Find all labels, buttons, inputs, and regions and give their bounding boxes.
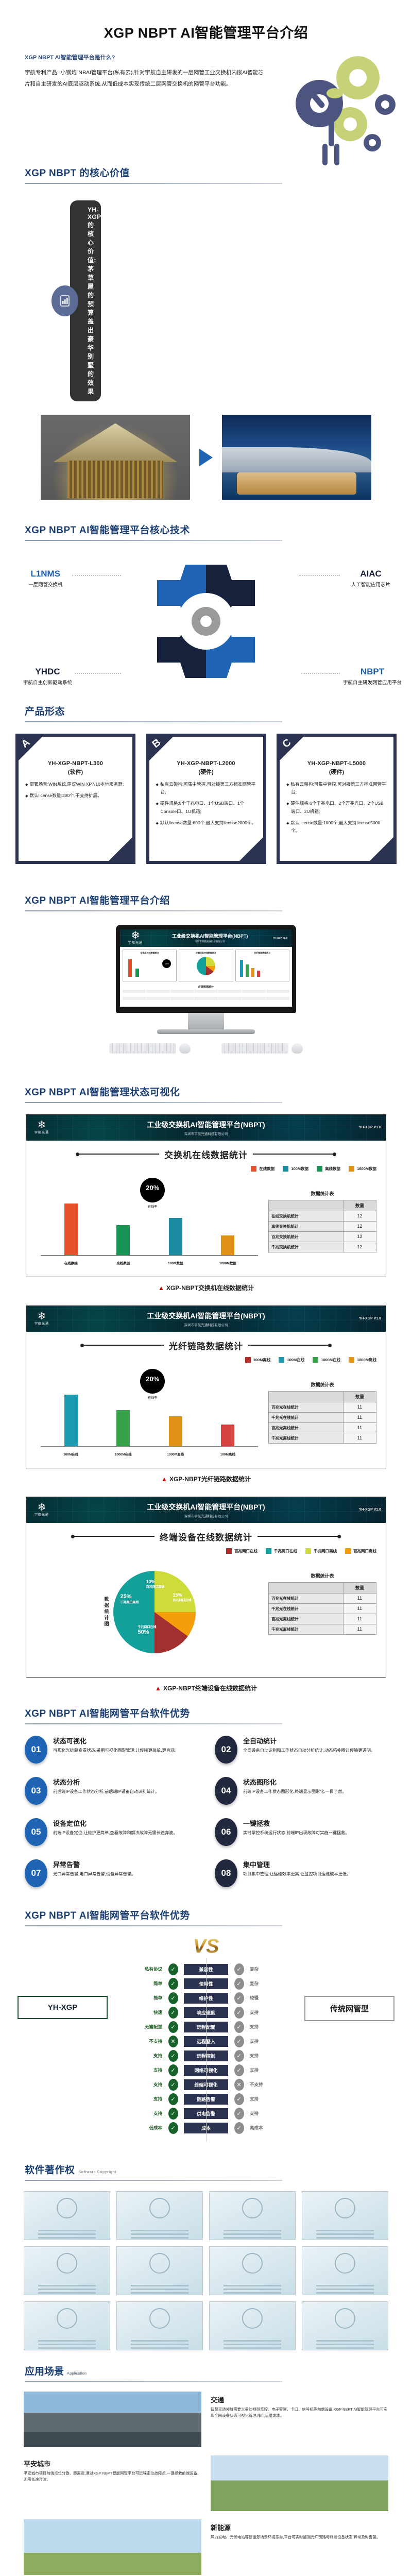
table-row: 千兆光在线统计11 [269,1412,376,1422]
check-icon: ✓ [168,2050,178,2062]
table-row: 百兆交换机统计12 [269,1231,376,1242]
advantage-number: 06 [215,1818,237,1846]
advantage-desc: 前端IP设备工作状态图形化,终端显示图形化,一目了然。 [243,1788,347,1795]
connector-line [72,575,121,576]
flame-icon: ❄ [30,1312,53,1321]
advantage-item-05: 05 设备定位化前端IP设备定位,让维护更简单,查看故障和解决故障无需长途奔波。 [25,1818,197,1846]
bar: 离线数据 [116,1225,130,1255]
legend-label: 千兆网口离线 [314,1548,337,1554]
core-tech-en: YHDC [23,667,72,677]
scenario-text-cell: 平安城市 平安城市项目前端点位分散、距离远,通过XGP NBPT智能网管平台可远… [24,2455,201,2511]
legend-item: 100M在线 [279,1357,304,1363]
advantage-title: 状态图形化 [243,1777,347,1787]
copyright-certificates [0,2181,412,2350]
table-caption: 数据统计表 [268,1381,376,1388]
table-row: 千兆光离线统计11 [269,1433,376,1443]
advantage-item-01: 01 状态可视化可视化光链路查看状态,采用可视化图形管理,让传输更简单,更直观。 [25,1736,197,1764]
core-tech-en: L1NMS [28,569,63,579]
check-icon: ✓ [168,2093,178,2105]
chart-legend: 百兆网口在线 千兆网口在线 千兆网口离线 百兆网口离线 [222,1548,376,1554]
connector-line [75,673,121,674]
certificate-item[interactable] [209,2301,296,2350]
certificate-item[interactable] [209,2246,296,2295]
scenario-text-cell: 新能源 风力发电、光伏电站等新能源场景环境恶劣,平台可实时监测光纤链路与终端设备… [211,2519,388,2575]
bar-label: 100M数据 [168,1260,183,1265]
corner-decoration [370,837,393,861]
check-icon: ✓ [234,1992,244,2004]
dashboard-header: ❄ 宇航光通 工业级交换机AI智能管理平台(NBPT) 深圳市宇航光通科技有限公… [26,1306,386,1332]
advantage-item-02: 02 全自动统计全网设备自动识别和工作状态自动分析统计,动态拓扑图让传输更透明。 [215,1736,387,1764]
scenario-photo-cell [24,2392,201,2447]
scenarios-heading: 应用场景Application [25,2364,387,2378]
brand-name: 宇航光通 [30,1321,53,1326]
check-icon: ✓ [168,2079,178,2091]
pie-slice-1: 10%百兆网口离线 [146,1579,165,1589]
stat-table: 数量 在线交换机统计12 离线交换机统计12 百兆交换机统计12 千兆交换机统计… [268,1200,376,1252]
title-rule [257,1536,340,1537]
check-icon: ✓ [168,2064,178,2076]
check-icon: ✓ [234,2036,244,2047]
dashboard-company: 深圳市宇航光通科技有限公司 [147,940,273,943]
stat-table-block: 数据统计表 数量 在线交换机统计12 离线交换机统计12 百兆交换机统计12 千… [268,1175,376,1267]
table-row: 百兆光离线统计11 [269,1422,376,1433]
divider [25,1925,282,1926]
advantage-desc: 可视化光链路查看状态,采用可视化图形管理,让传输更简单,更直观。 [53,1747,179,1754]
panel-title: 终端设备在线数据统计 [36,1530,376,1543]
card-subtitle: (硬件) [280,768,393,776]
flame-icon: ❄ [124,931,147,940]
legend-item: 千兆网口在线 [266,1548,297,1554]
legend-label: 100M在线 [287,1357,304,1363]
legend-swatch [349,1166,354,1172]
certificate-item[interactable] [24,2246,110,2295]
legend-item: 1000M离线 [349,1357,376,1363]
certificate-item[interactable] [302,2246,388,2295]
advantage-item-03: 03 状态分析前后端IP设备工作状态分析,前后端IP设备自动识别统计。 [25,1777,197,1805]
core-tech-cn: 人工智能应用芯片 [351,581,390,588]
triangle-icon: ▲ [161,1476,167,1483]
card-bullet: 默认license数量:1000个,最大支持license5000个。 [286,819,387,835]
keyboard [109,1043,176,1054]
copyright-header: 软件著作权Software Copyright [25,2162,387,2181]
check-icon: ✓ [234,2007,244,2019]
triangle-icon: ▲ [158,1284,164,1292]
legend-item: 100M数据 [283,1166,308,1172]
dashboard-version: YH-XGP V1.0 [273,937,287,939]
stat-table-block: 数据统计表 数量 百兆光在线统计11 千兆光在线统计11 百兆光离线统计11 千… [268,1557,376,1668]
legend-label: 1000M数据 [357,1166,376,1172]
mouse [291,1043,303,1054]
connector-line [301,673,340,674]
monitor-bezel: ❄ 宇航光通 工业级交换机AI智能管理平台(NBPT) 深圳市宇航光通科技有限公… [116,925,296,1013]
advantage-item-07: 07 异常告警光口异常告警,电口异常告警,设备异常告警。 [25,1859,197,1887]
cross-icon: ✕ [234,2079,244,2091]
core-tech-header: XGP NBPT AI智能管理平台核心技术 [25,522,387,541]
legend-label: 离线数据 [325,1166,340,1172]
panel-title: 光纤链路数据统计 [36,1339,376,1352]
dashboard-company: 深圳市宇航光通科技有限公司 [53,1322,359,1327]
core-tech-item-0: L1NMS 一层网管交换机 [28,569,63,588]
legend-swatch [266,1548,271,1554]
chart-legend: 在线数据 100M数据 离线数据 1000M数据 [36,1166,376,1172]
dashboard-title: 工业级交换机AI智能管理平台(NBPT) [53,1502,359,1512]
pie-slice-3: 千兆网口在线50% [138,1624,157,1635]
chart-report-icon [51,285,78,316]
scenario-title: 平安城市 [24,2459,201,2468]
brand-logo: ❄ 宇航光通 [30,1503,53,1517]
certificate-item[interactable] [24,2301,110,2350]
scenario-photo-cell [211,2455,388,2511]
advantage-title: 一键拯救 [243,1818,350,1828]
product-landing-page: XGP NBPT AI智能管理平台介绍 XGP NBPT AI智能管理平台是什么… [0,0,412,2576]
brand-logo: ❄ 宇航光通 [30,1312,53,1326]
bar-label: 100M离线 [220,1451,235,1456]
card-bullet: 默认license数量:600个,最大支持license2000个。 [156,819,256,827]
advantage-number: 03 [25,1777,47,1805]
advantage-desc: 项目集中管理,让运维效率更高,让监控项目运维成本更低。 [243,1871,351,1878]
brand-name: 宇航光通 [30,1512,53,1517]
monitor-base [157,1029,255,1034]
pie-slice-0: 25%千兆网口离线 [121,1594,139,1604]
core-tech-item-1: AIAC 人工智能应用芯片 [351,569,390,588]
intro-paragraph: 宇航专利产品:“小钢炮”NBAI管理平台(私有云),针对宇航自主研发的一层网管工… [25,67,267,90]
chart-legend: 100M离线 100M在线 1000M在线 1000M离线 [222,1357,376,1363]
legend-item: 100M离线 [245,1357,271,1363]
th-name [269,1391,344,1402]
th-count: 数量 [344,1200,376,1211]
check-icon: ✓ [234,1978,244,1990]
legend-swatch [305,1548,311,1554]
bar: 100M离线 [221,1425,234,1446]
scenario-desc: 平安城市项目前端点位分散、距离远,通过XGP NBPT智能网管平台可远程定位故障… [24,2470,201,2483]
legend-item: 百兆网口离线 [345,1548,376,1554]
bar-label: 1000M数据 [219,1260,236,1265]
card-subtitle: (硬件) [149,768,263,776]
legend-label: 100M离线 [253,1357,271,1363]
interlocking-gears-icon [129,554,283,704]
cross-icon: ✕ [168,2036,178,2047]
advantage-title: 设备定位化 [53,1818,178,1828]
legend-item: 在线数据 [251,1166,274,1172]
monitor-mockup: ❄ 宇航光通 工业级交换机AI智能管理平台(NBPT) 深圳市宇航光通科技有限公… [0,911,412,1054]
dashboard-title: 工业级交换机AI智能管理平台(NBPT) [147,933,273,939]
dashboard-company: 深圳市宇航光通科技有限公司 [53,1513,359,1518]
mouse [179,1043,191,1054]
check-icon: ✓ [234,2122,244,2134]
value-comparison-images [0,415,412,500]
dashboard-header: ❄ 宇航光通 工业级交换机AI智能管理平台(NBPT) 深圳市宇航光通科技有限公… [26,1115,386,1141]
brand-name: 宇航光通 [30,1130,53,1134]
title-rule [72,1536,154,1537]
certificate-item[interactable] [116,2246,203,2295]
energy-photo [24,2519,201,2575]
keyboard [221,1043,288,1054]
check-icon: ✓ [168,1992,178,2004]
dashboard-panel-fiber: ❄ 宇航光通 工业级交换机AI智能管理平台(NBPT) 深圳市宇航光通科技有限公… [0,1306,412,1483]
page-title: XGP NBPT AI智能管理平台介绍 [0,0,412,42]
table-row: 千兆光离线统计11 [269,1624,376,1634]
check-icon: ✓ [234,2021,244,2033]
scenario-photo-cell [24,2519,201,2575]
dashboard-panel-switch: ❄ 宇航光通 工业级交换机AI智能管理平台(NBPT) 深圳市宇航光通科技有限公… [0,1114,412,1292]
product-card-b[interactable]: B YH-XGP-NBPT-L2000 (硬件) 私有云架构:可集中管控,可对接… [146,734,266,864]
scenario-desc: 智慧交通领域需要大量的视频监控、电子警察、卡口、信号机等前端设备,XGP NBP… [211,2406,388,2419]
scenario-title: 交通 [211,2395,388,2404]
divider [25,1102,282,1103]
legend-label: 100M数据 [291,1166,308,1172]
product-cards: A YH-XGP-NBPT-L300 (软件) 部署场景:WIN系统,建议WIN… [0,722,412,864]
flame-icon: ❄ [30,1121,53,1130]
brand-name: 宇航光通 [124,940,147,945]
bar: 1000M在线 [116,1410,130,1446]
versus-heading: XGP NBPT AI智能网管平台软件优势 [25,1908,387,1922]
core-tech-heading: XGP NBPT AI智能管理平台核心技术 [25,522,387,536]
table-row: 百兆光离线统计11 [269,1614,376,1624]
core-tech-item-3: NBPT 宇航自主研发网管应用平台 [343,667,402,686]
check-icon: ✓ [168,2021,178,2033]
x-axis [41,1446,258,1447]
pie-chart: 数据统计图 25%千兆网口离线 10%百兆网口离线 15%百兆网口在线 千兆网口… [36,1557,263,1668]
bar: 1000M数据 [221,1235,234,1255]
bar-label: 100M在线 [63,1451,78,1456]
scenario-desc: 风力发电、光伏电站等新能源场景环境恶劣,平台可实时监测光纤链路与终端设备状态,异… [211,2534,388,2541]
panel-title: 交换机在线数据统计 [36,1148,376,1161]
th-name [269,1200,344,1211]
advantage-desc: 光口异常告警,电口异常告警,设备异常告警。 [53,1871,135,1878]
thatched-hut-photo [41,415,190,500]
bar: 在线数据 [64,1204,78,1255]
th-count: 数量 [344,1391,376,1402]
dashboard-header: ❄ 宇航光通 工业级交换机AI智能管理平台(NBPT) 深圳市宇航光通科技有限公… [26,1497,386,1523]
legend-swatch [283,1166,288,1172]
card-bullet: 硬件规格:6个千兆电口、2个万兆光口、2个USB端口、2U机箱; [286,800,387,815]
value-ribbon: YH-XGP的核心价值:茅草屋的预算盖出豪华别墅的效果 [51,200,412,401]
copyright-heading: 软件著作权Software Copyright [25,2162,387,2176]
dashboard-panel-terminal: ❄ 宇航光通 工业级交换机AI智能管理平台(NBPT) 深圳市宇航光通科技有限公… [0,1497,412,1692]
bar-label: 离线数据 [116,1260,130,1265]
bar-chart: 20% 在线率 在线数据 离线数据 100M数据 1000M数据 [36,1175,263,1267]
th-count: 数量 [344,1582,376,1593]
monitor-stand [188,1013,224,1029]
scenarios-grid: 交通 智慧交通领域需要大量的视频监控、电子警察、卡口、信号机等前端设备,XGP … [0,2382,412,2576]
figure-caption: ▲XGP-NBPT光纤链路数据统计 [0,1475,412,1483]
certificate-item[interactable] [209,2191,296,2240]
legend-item: 1000M在线 [313,1357,340,1363]
flame-icon: ❄ [30,1503,53,1512]
connector-line [299,575,340,576]
traffic-photo [24,2392,201,2447]
table-row: 在线交换机统计12 [269,1211,376,1221]
products-header: 产品形态 [25,704,387,722]
pie-graphic: 25%千兆网口离线 10%百兆网口离线 15%百兆网口在线 千兆网口在线50% [113,1571,196,1653]
table-row: 千兆光在线统计11 [269,1603,376,1614]
center-spine [206,1958,207,2142]
legend-item: 百兆网口在线 [226,1548,257,1554]
platform-intro-header: XGP NBPT AI智能管理平台介绍 [25,893,387,911]
check-icon: ✓ [168,1978,178,1990]
advantages-grid: 01 状态可视化可视化光链路查看状态,采用可视化图形管理,让传输更简单,更直观。… [0,1724,412,1887]
advantage-number: 01 [25,1736,47,1764]
advantages-heading: XGP NBPT AI智能网管平台软件优势 [25,1706,387,1720]
advantage-title: 全自动统计 [243,1736,375,1745]
advantage-number: 04 [215,1777,237,1805]
bar: 100M在线 [64,1395,78,1446]
table-row: 百兆光在线统计11 [269,1402,376,1412]
stat-table: 数量 百兆光在线统计11 千兆光在线统计11 百兆光离线统计11 千兆光离线统计… [268,1391,376,1444]
bar: 100M数据 [169,1218,182,1255]
brand-logo: ❄ 宇航光通 [124,931,147,945]
legend-swatch [345,1548,351,1554]
bar-label: 1000M离线 [167,1451,184,1456]
advantage-desc: 实时掌控系统运行状态,前端IP出现故障可实施一键拯救。 [243,1829,350,1837]
versus-table: YH-XGP 传统网管型 私有协议✓兼容性✓复杂 简单✓使用性✓复杂 简单✓维护… [0,1958,412,2142]
core-tech-cn: 宇航自主创新驱动系统 [23,679,72,686]
mini-chart-title: 光纤链路数据统计 [236,950,289,955]
vs-logo: VS [0,1936,412,1958]
card-bullet: 默认license数量:300个,不支持扩展。 [25,792,126,800]
dashboard-version: YH-XGP V1.0 [359,1317,381,1320]
bar-label: 1000M在线 [115,1451,132,1456]
card-subtitle: (软件) [19,768,132,776]
x-axis [41,1255,258,1256]
check-icon: ✓ [234,2064,244,2076]
legend-label: 百兆网口在线 [234,1548,257,1554]
card-bullet: 私有云架构:可集中管控,可对接第三方标准网管平台; [156,781,256,796]
scenario-text-cell: 交通 智慧交通领域需要大量的视频监控、电子警察、卡口、信号机等前端设备,XGP … [211,2392,388,2447]
divider [25,183,282,184]
chart-title: 交换机在线数据统计 [164,1148,248,1161]
core-tech-en: NBPT [343,667,402,677]
card-title: YH-XGP-NBPT-L300 [24,760,127,767]
check-icon: ✓ [168,1963,178,1975]
products-heading: 产品形态 [25,704,387,718]
dashboard-title: 工业级交换机AI智能管理平台(NBPT) [53,1120,359,1130]
luxury-villa-photo [222,415,371,500]
check-icon: ✓ [234,2108,244,2120]
title-rule [77,1154,159,1155]
pie-axis-label: 数据统计图 [104,1597,110,1628]
dashboard-company: 深圳市宇航光通科技有限公司 [53,1131,359,1136]
legend-item: 千兆网口离线 [305,1548,337,1554]
mini-chart-title: 交换机在线数据统计 [123,950,176,955]
scenario-title: 新能源 [211,2522,388,2532]
advantage-title: 状态可视化 [53,1736,179,1745]
dashboard-version: YH-XGP V1.0 [359,1508,381,1512]
card-title: YH-XGP-NBPT-L5000 [285,760,388,767]
advantage-desc: 前端IP设备定位,让维护更简单,查看故障和解决故障无需长途奔波。 [53,1829,178,1837]
certificate-item[interactable] [116,2191,203,2240]
core-tech-item-2: YHDC 宇航自主创新驱动系统 [23,667,72,686]
legend-label: 在线数据 [259,1166,274,1172]
check-icon: ✓ [168,2007,178,2019]
legend-swatch [313,1357,318,1363]
legend-label: 1000M离线 [357,1357,376,1363]
stat-table: 数量 百兆光在线统计11 千兆光在线统计11 百兆光离线统计11 千兆光离线统计… [268,1582,376,1635]
arrow-right-icon [199,449,213,466]
legend-swatch [349,1357,354,1363]
certificate-item[interactable] [116,2301,203,2350]
core-tech-cn: 宇航自主研发网管应用平台 [343,679,402,686]
advantage-item-04: 04 状态图形化前端IP设备工作状态图形化,终端显示图形化,一目了然。 [215,1777,387,1805]
title-rule [248,1345,331,1346]
card-bullet: 硬件规格:5个千兆电口、1个USB端口、1个Console口、1U机箱; [156,800,256,815]
title-rule [253,1154,335,1155]
monitor-screen: ❄ 宇航光通 工业级交换机AI智能管理平台(NBPT) 深圳市宇航光通科技有限公… [120,929,292,1007]
mini-chart-title: 终端设备在线数据统计 [179,950,232,955]
right-tag: 传统网管型 [304,1996,394,2021]
legend-swatch [279,1357,284,1363]
stat-table-block: 数据统计表 数量 百兆光在线统计11 千兆光在线统计11 百兆光离线统计11 千… [268,1366,376,1459]
product-card-a[interactable]: A YH-XGP-NBPT-L300 (软件) 部署场景:WIN系统,建议WIN… [15,734,135,864]
table-row: 百兆光在线统计11 [269,1593,376,1603]
legend-swatch [251,1166,256,1172]
table-row: 千兆交换机统计12 [269,1242,376,1252]
left-tag: YH-XGP [18,1996,108,2019]
dashboard-version: YH-XGP V1.0 [359,1126,381,1129]
chart-title: 终端设备在线数据统计 [160,1530,252,1543]
advantage-title: 状态分析 [53,1777,159,1787]
intro-section: XGP NBPT AI智能管理平台是什么? 宇航专利产品:“小钢炮”NBAI管理… [0,42,412,145]
legend-label: 百兆网口离线 [353,1548,376,1554]
bar-chart: 20% 在线率 100M在线 1000M在线 1000M离线 100M离线 [36,1366,263,1459]
figure-caption: ▲XGP-NBPT交换机在线数据统计 [0,1283,412,1292]
advantage-desc: 前后端IP设备工作状态分析,前后端IP设备自动识别统计。 [53,1788,159,1795]
corner-decoration [109,837,132,861]
core-tech-en: AIAC [351,569,390,579]
certificate-item[interactable] [24,2191,110,2240]
advantage-desc: 全网设备自动识别和工作状态自动分析统计,动态拓扑图让传输更透明。 [243,1747,375,1754]
legend-item: 1000M数据 [349,1166,376,1172]
advantage-number: 08 [215,1859,237,1887]
advantage-title: 异常告警 [53,1859,135,1869]
city-photo [211,2455,388,2511]
card-bullet: 私有云架构:可集中管控,可对接第三方标准网管平台; [286,781,387,796]
bar-label: 在线数据 [64,1260,78,1265]
gears-illustration [247,42,402,171]
divider [25,540,282,541]
corner-decoration [239,837,263,861]
legend-swatch [317,1166,322,1172]
mini-badge: 20% [162,959,171,968]
legend-swatch [226,1548,232,1554]
chart-title: 光纤链路数据统计 [169,1339,243,1352]
scenarios-header: 应用场景Application [0,2350,412,2382]
check-icon: ✓ [234,2050,244,2062]
title-rule [81,1345,164,1346]
certificate-item[interactable] [302,2301,388,2350]
card-bullet: 部署场景:WIN系统,建议WIN XP7/10本地服务器; [25,781,126,788]
advantage-number: 07 [25,1859,47,1887]
check-icon: ✓ [168,2108,178,2120]
advantage-item-08: 08 集中管理项目集中管理,让运维效率更高,让监控项目运维成本更低。 [215,1859,387,1887]
bar: 1000M离线 [169,1416,182,1446]
product-card-c[interactable]: C YH-XGP-NBPT-L5000 (硬件) 私有云架构:可集中管控,可对接… [277,734,397,864]
brand-logo: ❄ 宇航光通 [30,1121,53,1134]
check-icon: ✓ [168,2122,178,2134]
platform-intro-heading: XGP NBPT AI智能管理平台介绍 [25,893,387,907]
advantage-number: 02 [215,1736,237,1764]
card-title: YH-XGP-NBPT-L2000 [154,760,258,767]
pie-slice-2: 15%百兆网口在线 [173,1592,191,1602]
check-icon: ✓ [234,1963,244,1975]
legend-label: 1000M在线 [321,1357,340,1363]
table-row: 离线交换机统计12 [269,1221,376,1231]
versus-header: XGP NBPT AI智能网管平台软件优势 [25,1908,387,1926]
dashboard-title: 工业级交换机AI智能管理平台(NBPT) [53,1311,359,1321]
certificate-item[interactable] [302,2191,388,2240]
advantages-header: XGP NBPT AI智能网管平台软件优势 [25,1706,387,1724]
advantage-number: 05 [25,1818,47,1846]
